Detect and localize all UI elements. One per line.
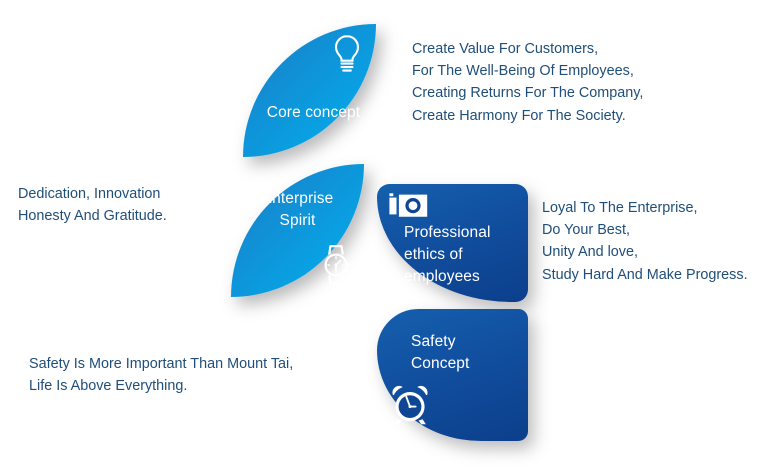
description-core-concept: Create Value For Customers, For The Well… (412, 38, 742, 127)
petal-core-concept[interactable]: Core concept (243, 24, 376, 157)
petal-enterprise-spirit-shape (231, 164, 364, 297)
petal-professional-ethics[interactable]: Professional ethics of employees (377, 184, 528, 302)
petal-professional-ethics-shape (377, 184, 528, 302)
petal-safety-concept[interactable]: Safety Concept (377, 309, 528, 441)
petal-enterprise-spirit[interactable]: Enterprise Spirit (231, 164, 364, 297)
description-safety-concept: Safety Is More Important Than Mount Tai,… (29, 353, 329, 397)
petal-safety-concept-shape (377, 309, 528, 441)
infographic-canvas: Core concept Enterprise Spirit (0, 0, 770, 474)
description-professional-ethics: Loyal To The Enterprise, Do Your Best, U… (542, 197, 767, 286)
petal-core-concept-shape (243, 24, 376, 157)
description-enterprise-spirit: Dedication, Innovation Honesty And Grati… (18, 183, 223, 227)
